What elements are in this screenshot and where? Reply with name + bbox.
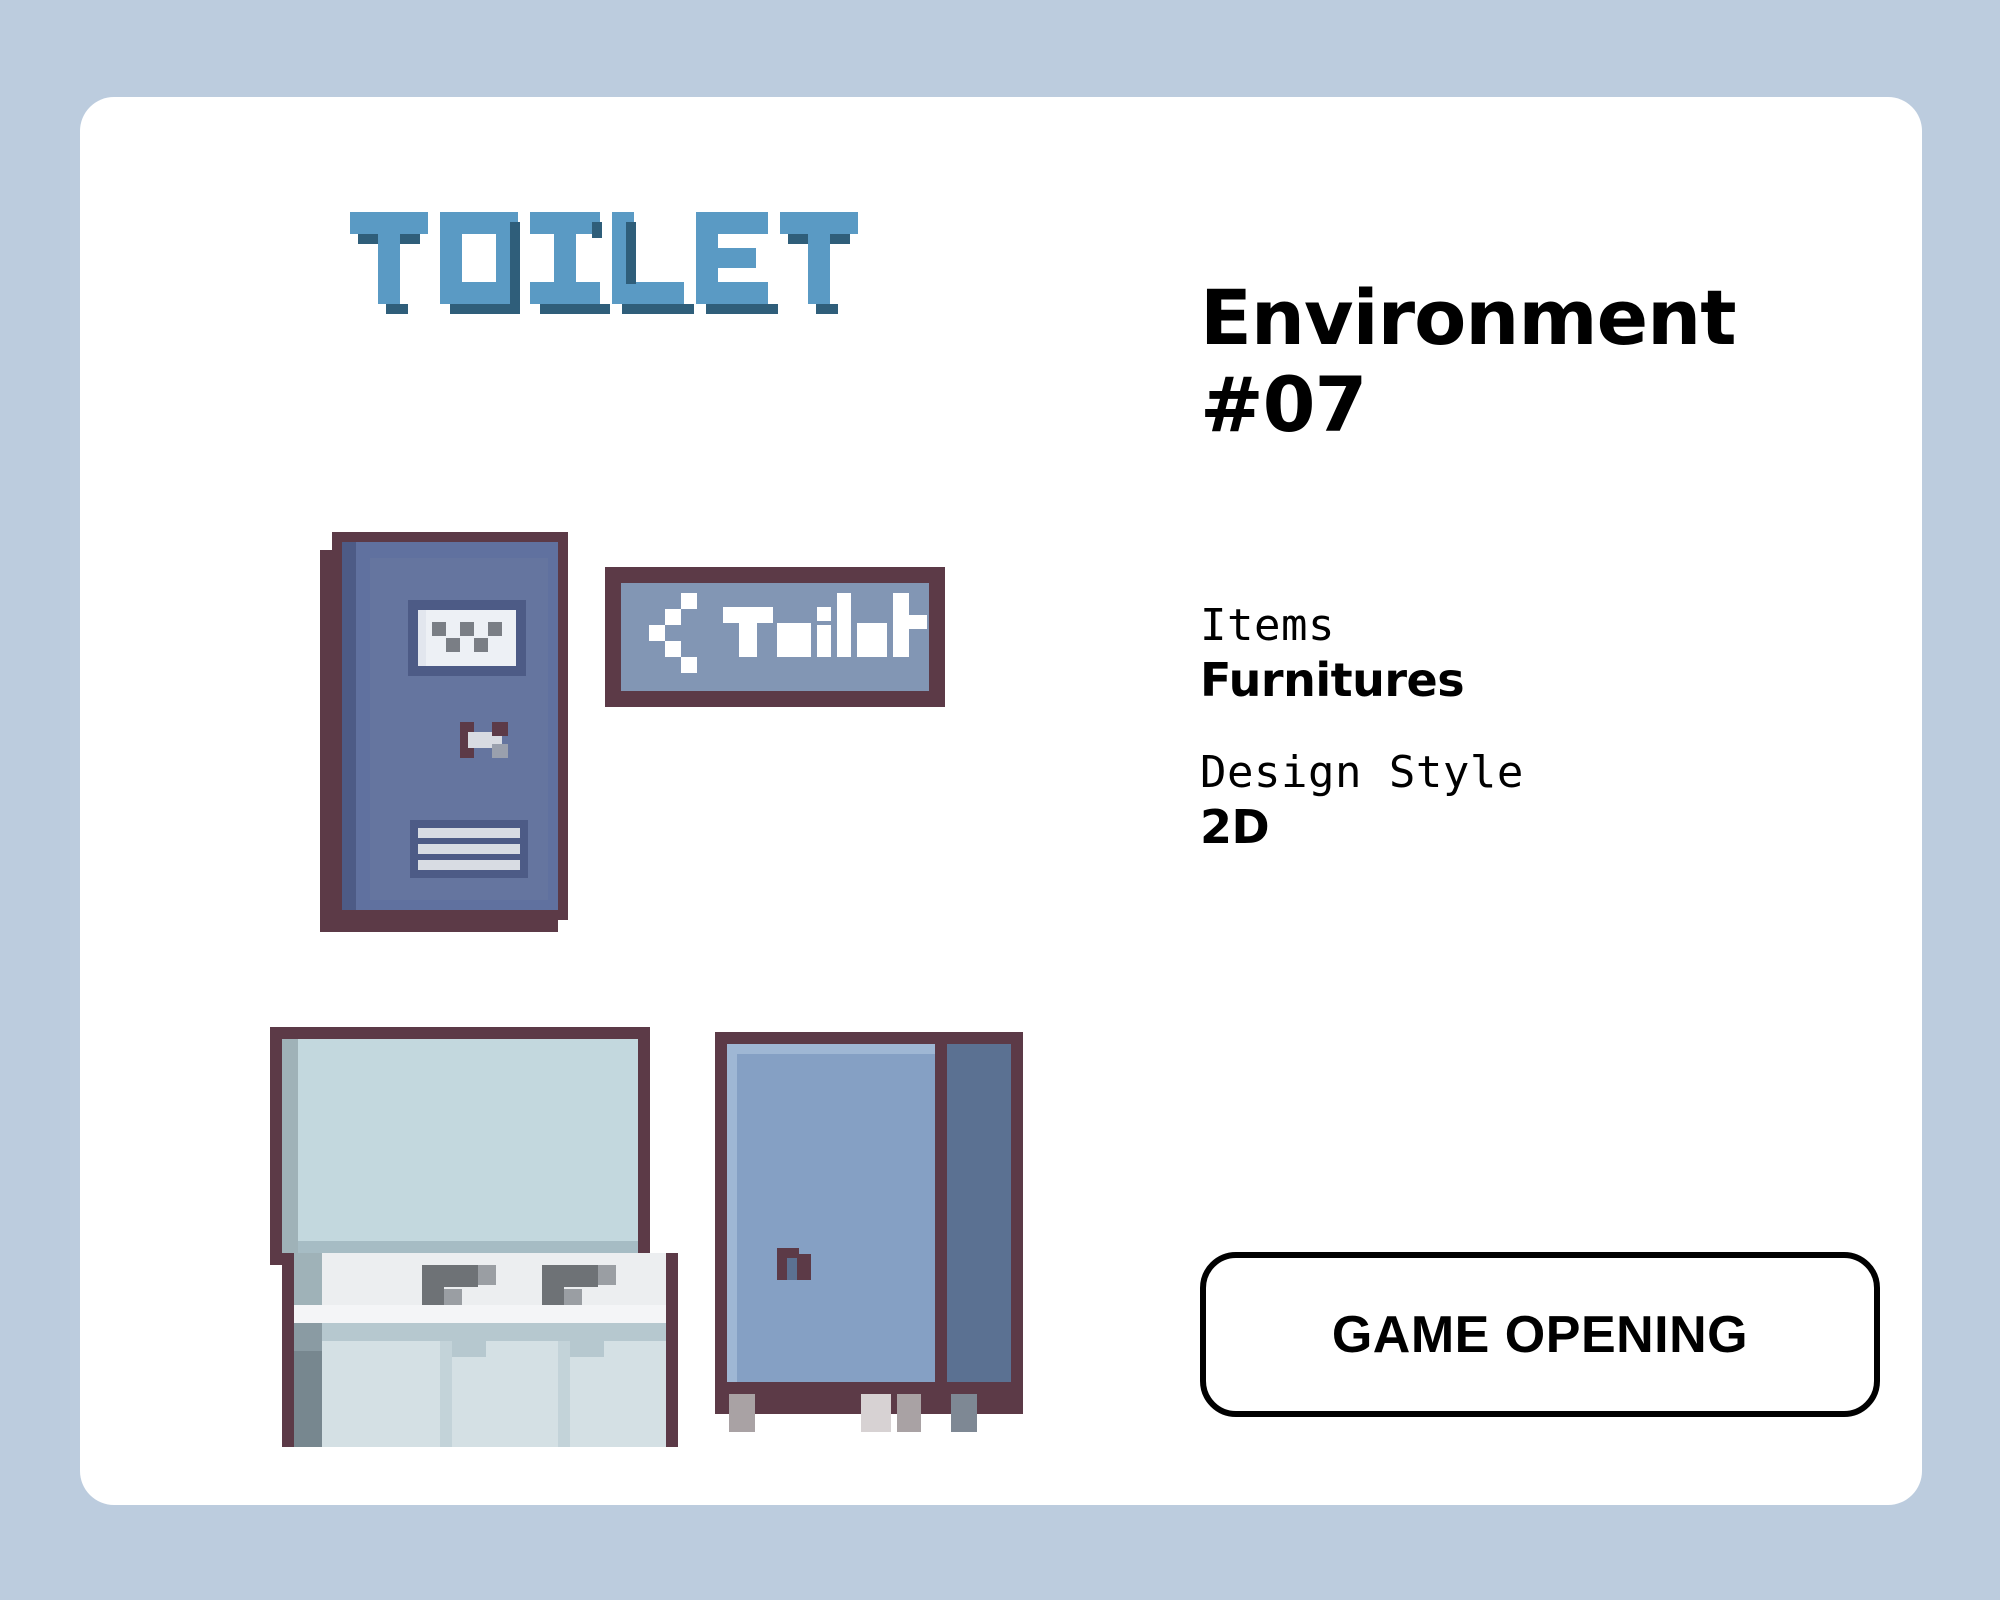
locker-foot — [861, 1394, 891, 1432]
door-window-pixel — [474, 638, 488, 652]
sign-text-pixel — [723, 607, 773, 623]
basin-divider — [440, 1341, 452, 1447]
faucet-icon — [598, 1265, 616, 1285]
field-design-style-label: Design Style — [1200, 747, 1920, 798]
counter-side-dark — [294, 1351, 322, 1447]
door-vent-slat — [418, 828, 520, 838]
basin-nub — [452, 1341, 486, 1357]
sign-text-pixel — [893, 615, 927, 629]
sign-arrow-icon — [681, 593, 697, 609]
mirror-side-shade — [282, 1039, 298, 1253]
field-design-style: Design Style 2D — [1200, 747, 1920, 854]
pixel-title — [350, 212, 858, 304]
faucet-icon — [542, 1287, 564, 1307]
locker-foot — [897, 1394, 921, 1432]
locker-latch-icon — [797, 1254, 811, 1280]
door-window-pixel — [460, 622, 474, 636]
door-vent-slat — [418, 860, 520, 870]
locker-foot — [729, 1394, 755, 1432]
environment-card: Environment #07 Items Furnitures Design … — [80, 97, 1922, 1505]
door-handle-top — [492, 722, 508, 736]
counter-edge-shade — [294, 1323, 322, 1351]
pixel-letter-i — [530, 212, 600, 304]
mirror-ledge — [298, 1241, 638, 1253]
locker-door — [737, 1054, 935, 1382]
faucet-icon — [422, 1287, 444, 1307]
pixel-letter-l — [612, 212, 684, 304]
door-edge — [342, 542, 356, 910]
pixel-letter-t — [350, 212, 428, 304]
counter-basins — [322, 1341, 666, 1447]
sign-text-pixel — [817, 607, 831, 621]
counter-lip — [294, 1305, 666, 1323]
mirror-glass — [298, 1039, 638, 1241]
faucet-icon — [542, 1265, 598, 1287]
counter-band — [322, 1323, 666, 1341]
door-window-pixel — [488, 622, 502, 636]
field-design-style-value: 2D — [1200, 800, 1920, 854]
pixel-letter-o — [440, 212, 518, 304]
door-window-pixel — [446, 638, 460, 652]
pixel-letter-t2 — [780, 212, 858, 304]
field-items-value: Furnitures — [1200, 653, 1920, 707]
sign-text-pixel — [817, 625, 831, 657]
pixel-letter-e — [696, 212, 768, 304]
door-vent-slat — [418, 844, 520, 854]
basin-divider — [558, 1341, 570, 1447]
artwork-column — [135, 97, 1095, 1505]
basin-nub — [570, 1341, 604, 1357]
toilet-sign-sprite — [605, 567, 945, 707]
sign-text-pixel — [837, 593, 851, 657]
faucet-icon — [478, 1265, 496, 1285]
door-handle-bottom — [492, 744, 508, 758]
field-items: Items Furnitures — [1200, 600, 1920, 707]
sign-arrow-icon — [681, 657, 697, 673]
toilet-door-sprite — [320, 532, 568, 932]
door-window-glass-light — [426, 610, 516, 666]
field-items-label: Items — [1200, 600, 1920, 651]
page-title: Environment #07 — [1200, 275, 1920, 448]
screen-root: Environment #07 Items Furnitures Design … — [0, 0, 2000, 1600]
locker-sprite — [715, 1032, 1045, 1452]
sign-arrow-icon — [665, 641, 681, 657]
sign-arrow-icon — [665, 609, 681, 625]
game-opening-button[interactable]: GAME OPENING — [1200, 1252, 1880, 1417]
mirror-sink-sprite — [270, 1027, 690, 1447]
sign-text-pixel — [739, 623, 757, 657]
sign-text-pixel — [777, 623, 811, 657]
info-column: Environment #07 Items Furnitures Design … — [1200, 275, 1920, 854]
locker-foot — [951, 1394, 977, 1432]
door-window-pixel — [432, 622, 446, 636]
sign-text-pixel — [857, 623, 887, 657]
faucet-icon — [422, 1265, 478, 1287]
locker-side-panel — [947, 1044, 1011, 1382]
sign-arrow-icon — [649, 625, 665, 641]
